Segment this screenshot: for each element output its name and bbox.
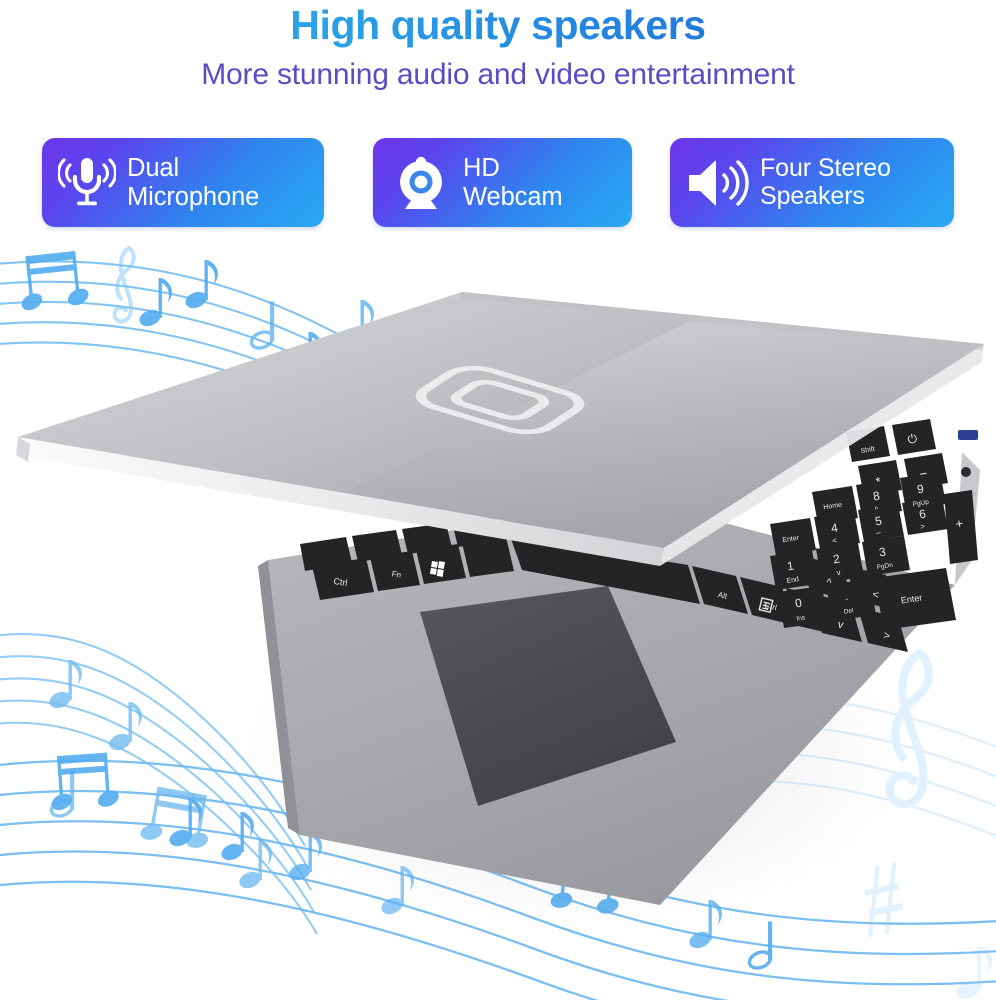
headphone-jack-icon — [961, 467, 971, 477]
usb-port-icon — [958, 430, 978, 440]
key-alt-left — [462, 537, 514, 577]
laptop-illustration: Ctrl Fn Alt Ctrl ^ < v > Shift ⏻ * − Hom… — [0, 0, 996, 1000]
svg-text:Fn: Fn — [391, 569, 402, 579]
product-image-canvas: High quality speakers More stunning audi… — [0, 0, 996, 1000]
